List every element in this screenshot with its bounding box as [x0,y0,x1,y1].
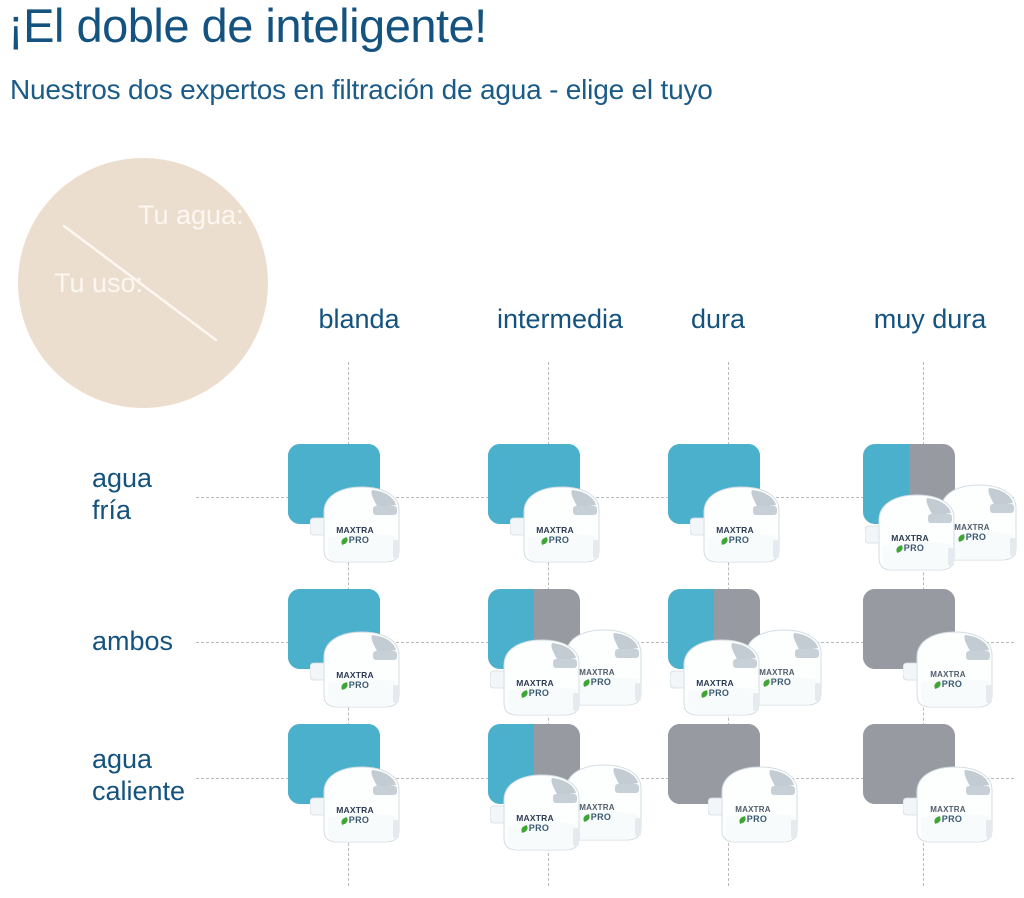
cartridge-body-icon [490,631,594,723]
cartridge-maxtra-pro-hard-water[interactable]: MAXTRA PRO [708,758,812,850]
infographic-root: ¡El doble de inteligente! Nuestros dos e… [0,0,1024,898]
cartridge-maxtra-pro[interactable]: MAXTRA PRO [670,631,774,723]
cartridge-body-icon [310,758,414,850]
matrix-cell[interactable]: MAXTRA PRO MAXTRA PRO [855,440,1024,580]
matrix-cell[interactable]: MAXTRA PRO MAXTRA PRO [480,720,680,860]
cartridge-maxtra-pro[interactable]: MAXTRA PRO [490,631,594,723]
legend-water-label: Tu agua: [138,198,258,232]
matrix-cell[interactable]: MAXTRA PRO [660,440,860,580]
cartridge-maxtra-pro[interactable]: MAXTRA PRO [310,478,414,570]
cartridge-body-icon [310,623,414,715]
column-header-dura: dura [691,303,745,335]
row-header-agua-fria: agua fría [92,462,152,526]
cartridge-body-icon [670,631,774,723]
matrix-cell[interactable]: MAXTRA PRO [280,440,480,580]
matrix-cell[interactable]: MAXTRA PRO [855,720,1024,860]
cartridge-body-icon [865,486,969,578]
legend-use-label: Tu uso: [54,266,174,300]
page-subtitle: Nuestros dos expertos en filtración de a… [10,72,713,108]
page-title: ¡El doble de inteligente! [8,0,487,54]
cartridge-body-icon [510,478,614,570]
cartridge-maxtra-pro[interactable]: MAXTRA PRO [865,486,969,578]
cartridge-maxtra-pro[interactable]: MAXTRA PRO [510,478,614,570]
cartridge-maxtra-pro[interactable]: MAXTRA PRO [310,758,414,850]
column-header-blanda: blanda [318,303,399,335]
row-header-ambos: ambos [92,625,173,657]
cartridge-body-icon [690,478,794,570]
cartridge-body-icon [903,623,1007,715]
cartridge-body-icon [490,766,594,858]
column-header-muy-dura: muy dura [874,303,987,335]
cartridge-maxtra-pro-hard-water[interactable]: MAXTRA PRO [903,623,1007,715]
cartridge-body-icon [708,758,812,850]
row-header-agua-caliente: agua caliente [92,743,185,807]
cartridge-maxtra-pro[interactable]: MAXTRA PRO [490,766,594,858]
cartridge-body-icon [903,758,1007,850]
cartridge-maxtra-pro-hard-water[interactable]: MAXTRA PRO [903,758,1007,850]
column-header-intermedia: intermedia [497,303,623,335]
cartridge-body-icon [310,478,414,570]
matrix-cell[interactable]: MAXTRA PRO MAXTRA PRO [480,585,680,725]
matrix-cell[interactable]: MAXTRA PRO [280,720,480,860]
matrix-cell[interactable]: MAXTRA PRO [480,440,680,580]
matrix-cell[interactable]: MAXTRA PRO [660,720,860,860]
matrix-cell[interactable]: MAXTRA PRO [855,585,1024,725]
legend-circle: Tu agua: Tu uso: [18,158,268,408]
matrix-cell[interactable]: MAXTRA PRO [280,585,480,725]
cartridge-maxtra-pro[interactable]: MAXTRA PRO [310,623,414,715]
matrix-cell[interactable]: MAXTRA PRO MAXTRA PRO [660,585,860,725]
cartridge-maxtra-pro[interactable]: MAXTRA PRO [690,478,794,570]
